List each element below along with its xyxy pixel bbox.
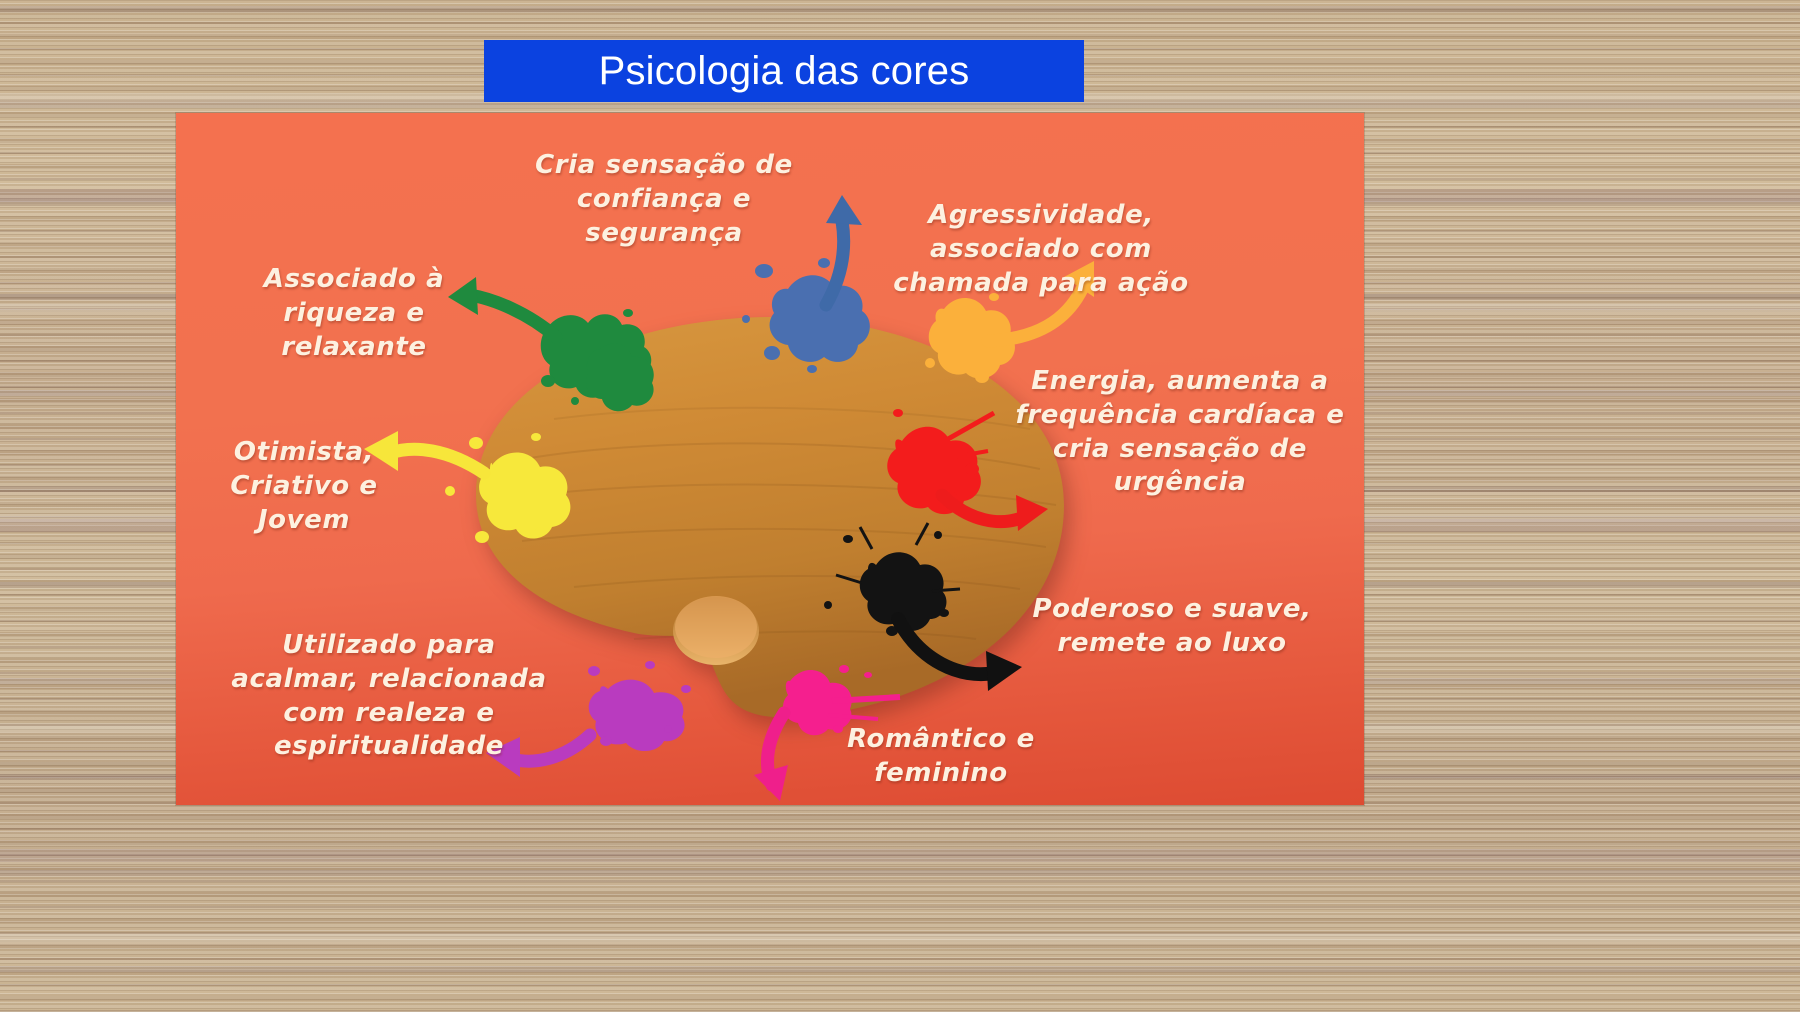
caption-green: Associado à riqueza e relaxante [238,263,470,364]
arrow-red [942,495,1048,531]
caption-pink: Romântico e feminino [816,723,1066,791]
splotch-green [541,309,654,411]
page-title: Psicologia das cores [599,49,970,94]
caption-purple: Utilizado para acalmar, relacionada com … [224,629,554,764]
arrow-pink [754,713,788,801]
splotch-blue [742,258,870,373]
caption-yellow: Otimista, Criativo e Jovem [198,436,410,537]
caption-orange: Agressividade, associado com chamada par… [876,199,1206,300]
color-psychology-infographic: Cria sensação de confiança e segurança A… [176,113,1364,805]
caption-black: Poderoso e suave, remete ao luxo [1014,593,1330,661]
caption-red: Energia, aumenta a frequência cardíaca e… [1006,365,1354,500]
slide-title-banner: Psicologia das cores [484,40,1084,102]
caption-blue: Cria sensação de confiança e segurança [514,149,814,250]
splotch-purple [588,661,691,751]
